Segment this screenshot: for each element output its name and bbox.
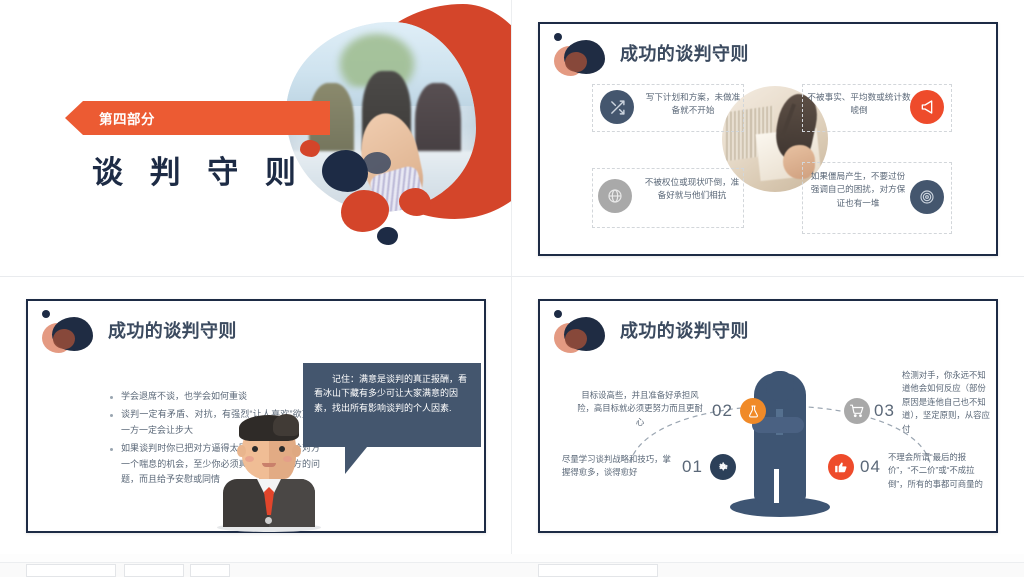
brand-logo-icon xyxy=(552,32,614,78)
slide-grid: 第四部分 谈 判 守 则 成功的谈判守则 写下计划和方案，未做准备就不开始 xyxy=(0,0,1024,577)
decorative-blob-navy-small xyxy=(377,227,398,245)
illustration-area: 记住：满意是谈判的真正报酬，看看冰山下藏有多少可让大家满意的因素，找出所有影响谈… xyxy=(200,301,490,535)
megaphone-icon[interactable] xyxy=(910,90,944,124)
businessman-silhouette xyxy=(736,373,822,523)
slide-frame-4: 成功的谈判守则 尽量学习谈判战略和技巧，掌握得愈多，谈得愈好 01 目标设高些，… xyxy=(538,299,998,533)
callout-text-4: 如果僵局产生，不要过份强调自己的困扰，对方保证也有一堆 xyxy=(807,170,909,210)
title-slide: 第四部分 谈 判 守 则 xyxy=(0,0,511,276)
section-label: 第四部分 xyxy=(99,108,155,128)
node-number-4: 04 xyxy=(860,457,881,477)
callout-text-3: 不被权位或现状吓倒，准备好就与他们相抗 xyxy=(643,176,741,203)
decorative-blob-red-1 xyxy=(341,190,389,232)
gear-icon[interactable] xyxy=(710,454,736,480)
slide-title-4: 成功的谈判守则 xyxy=(620,317,749,343)
node-text-4: 不理会所谓“最后的报价”，“不二价”或“不成拉倒”，所有的事都可商量的 xyxy=(888,451,988,491)
node-text-2: 目标设高些，并且准备好承担风险，高目标就必须更努力而且更耐心 xyxy=(576,389,704,429)
node-number-1: 01 xyxy=(682,457,703,477)
speech-bubble: 记住：满意是谈判的真正报酬，看看冰山下藏有多少可让大家满意的因素，找出所有影响谈… xyxy=(303,363,481,447)
node-number-3: 03 xyxy=(874,401,895,421)
section-banner: 第四部分 xyxy=(65,101,330,135)
flask-icon[interactable] xyxy=(740,398,766,424)
callout-text-2: 不被事实、平均数或统计数唬倒 xyxy=(807,91,911,118)
decorative-blob-navy xyxy=(322,150,368,192)
cart-icon[interactable] xyxy=(844,398,870,424)
decorative-blob-red-2 xyxy=(399,188,431,216)
peek-slide-b[interactable] xyxy=(124,564,184,577)
brand-logo-icon xyxy=(552,309,614,355)
shuffle-icon[interactable] xyxy=(600,90,634,124)
slide-frame-2: 成功的谈判守则 写下计划和方案，未做准备就不开始 不被事实、平均数或统计数唬倒 xyxy=(538,22,998,256)
peek-slide-d[interactable] xyxy=(538,564,658,577)
node-number-2: 02 xyxy=(712,401,733,421)
slide-thumbnail-3[interactable]: 成功的谈判守则 学会退席不谈，也学会如何重谈 谈判一定有矛盾、对抗，有强烈“让人… xyxy=(0,277,512,554)
slide-thumbnail-1[interactable]: 第四部分 谈 判 守 则 xyxy=(0,0,512,277)
node-text-1: 尽量学习谈判战略和技巧，掌握得愈多，谈得愈好 xyxy=(562,453,674,480)
globe-icon[interactable] xyxy=(598,179,632,213)
speech-bubble-tail xyxy=(345,447,367,474)
page-title: 谈 判 守 则 xyxy=(92,147,305,192)
peek-slide-c[interactable] xyxy=(190,564,230,577)
speech-bubble-text: 记住：满意是谈判的真正报酬，看看冰山下藏有多少可让大家满意的因素，找出所有影响谈… xyxy=(314,372,470,415)
next-row-peek xyxy=(0,562,1024,577)
callout-text-1: 写下计划和方案，未做准备就不开始 xyxy=(645,91,741,118)
slide-frame-3: 成功的谈判守则 学会退席不谈，也学会如何重谈 谈判一定有矛盾、对抗，有强烈“让人… xyxy=(26,299,486,533)
node-text-3: 检测对手，你永远不知道他会如何反应（部份原因是连他自己也不知道），坚定原则，从容… xyxy=(902,369,994,436)
slide-thumbnail-2[interactable]: 成功的谈判守则 写下计划和方案，未做准备就不开始 不被事实、平均数或统计数唬倒 xyxy=(512,0,1024,277)
target-icon[interactable] xyxy=(910,180,944,214)
businessman-character xyxy=(217,413,321,527)
slide-title-2: 成功的谈判守则 xyxy=(620,40,749,66)
brand-logo-icon xyxy=(40,309,102,355)
slide-thumbnail-4[interactable]: 成功的谈判守则 尽量学习谈判战略和技巧，掌握得愈多，谈得愈好 01 目标设高些，… xyxy=(512,277,1024,554)
peek-slide-a[interactable] xyxy=(26,564,116,577)
thumbs-up-icon[interactable] xyxy=(828,454,854,480)
